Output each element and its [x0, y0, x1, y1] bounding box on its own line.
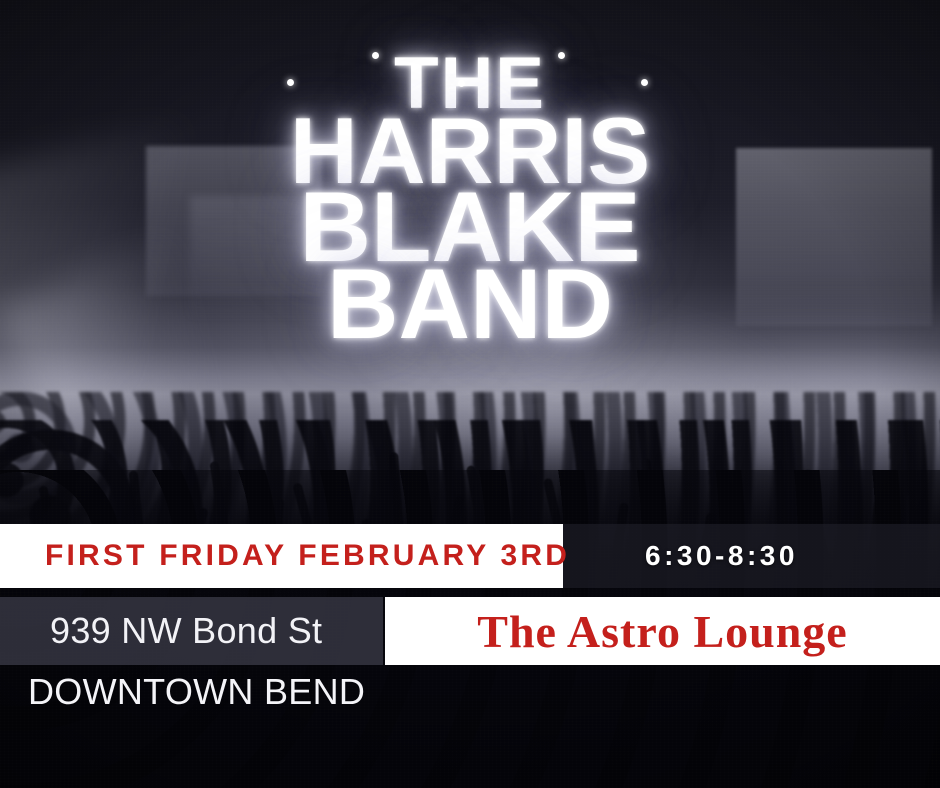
venue-name: The Astro Lounge — [385, 597, 940, 665]
event-date: FIRST FRIDAY FEBRUARY 3RD — [45, 524, 570, 588]
sparkle-dot — [641, 79, 648, 86]
band-name-headline: THE HARRIS BLAKE BAND — [0, 52, 940, 347]
sparkle-dot — [372, 52, 379, 59]
venue-city-area: DOWNTOWN BEND — [28, 666, 365, 718]
concert-poster: THE HARRIS BLAKE BAND FIRST FRIDAY FEBRU… — [0, 0, 940, 788]
venue-street-address: 939 NW Bond St — [50, 597, 322, 665]
sparkle-dot — [558, 52, 565, 59]
sparkle-dot — [458, 80, 465, 87]
event-time: 6:30-8:30 — [645, 524, 798, 588]
sparkle-dot — [287, 79, 294, 86]
band-name-line-band: BAND — [0, 260, 940, 347]
